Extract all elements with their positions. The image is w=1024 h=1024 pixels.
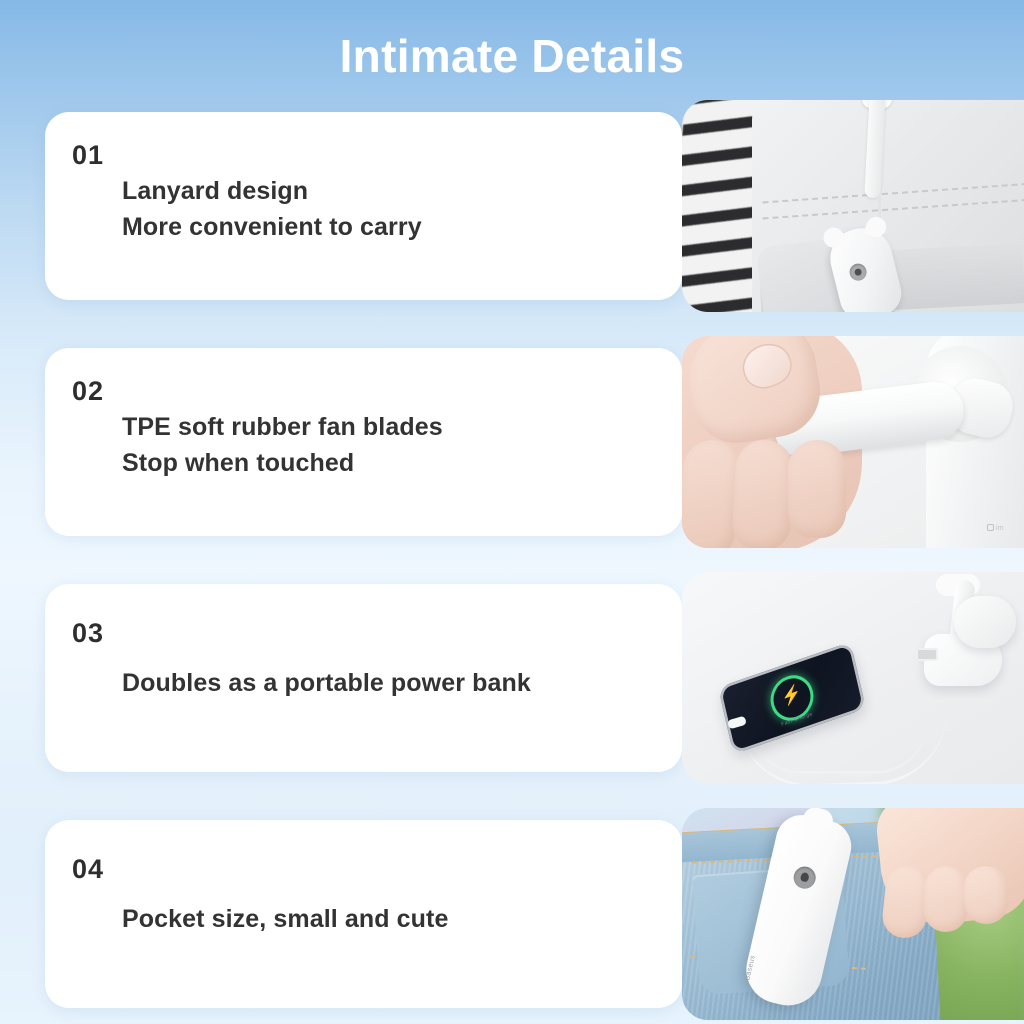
finger xyxy=(923,865,969,932)
power-button-icon xyxy=(791,864,817,890)
feature-line-4a: Pocket size, small and cute xyxy=(122,902,448,938)
feature-line-1a: Lanyard design xyxy=(122,174,422,210)
feature-text-3: Doubles as a portable power bank xyxy=(122,666,531,702)
feature-card-2[interactable]: 02 TPE soft rubber fan blades Stop when … xyxy=(45,348,682,536)
feature-card-4[interactable]: 04 Pocket size, small and cute xyxy=(45,820,682,1008)
feature-photo-4: Baseus xyxy=(682,808,1024,1020)
feature-photo-2: im xyxy=(682,336,1024,548)
power-bank-head xyxy=(954,596,1016,648)
feature-line-3a: Doubles as a portable power bank xyxy=(122,666,531,702)
hand-fingers xyxy=(682,440,862,548)
feature-text-2: TPE soft rubber fan blades Stop when tou… xyxy=(122,410,443,481)
power-button-icon xyxy=(848,262,869,283)
feature-card-1[interactable]: 01 Lanyard design More convenient to car… xyxy=(45,112,682,300)
feature-row-4: 04 Pocket size, small and cute Baseus xyxy=(0,820,1024,1008)
thumb-nail xyxy=(738,339,795,393)
feature-text-1: Lanyard design More convenient to carry xyxy=(122,174,422,245)
brand-watermark: im xyxy=(987,524,1004,535)
feature-photo-3: Fast Charge xyxy=(682,572,1024,784)
fan-lanyard-tab xyxy=(802,808,835,829)
finger xyxy=(963,865,1009,925)
brand-logo-icon xyxy=(987,524,994,531)
feature-line-1b: More convenient to carry xyxy=(122,210,422,246)
page-title: Intimate Details xyxy=(0,28,1024,86)
feature-row-1: 01 Lanyard design More convenient to car… xyxy=(0,112,1024,300)
feature-number-2: 02 xyxy=(72,376,104,407)
infographic-page: Intimate Details 01 Lanyard design More … xyxy=(0,0,1024,1024)
feature-card-3[interactable]: 03 Doubles as a portable power bank xyxy=(45,584,682,772)
feature-photo-1 xyxy=(682,100,1024,312)
feature-number-4: 04 xyxy=(72,854,104,885)
feature-line-2b: Stop when touched xyxy=(122,446,443,482)
feature-text-4: Pocket size, small and cute xyxy=(122,902,448,938)
feature-line-2a: TPE soft rubber fan blades xyxy=(122,410,443,446)
feature-number-3: 03 xyxy=(72,618,104,649)
feature-row-3: 03 Doubles as a portable power bank Fast… xyxy=(0,584,1024,772)
usb-port-icon xyxy=(916,648,938,661)
feature-row-2: 02 TPE soft rubber fan blades Stop when … xyxy=(0,348,1024,536)
feature-number-1: 01 xyxy=(72,140,104,171)
